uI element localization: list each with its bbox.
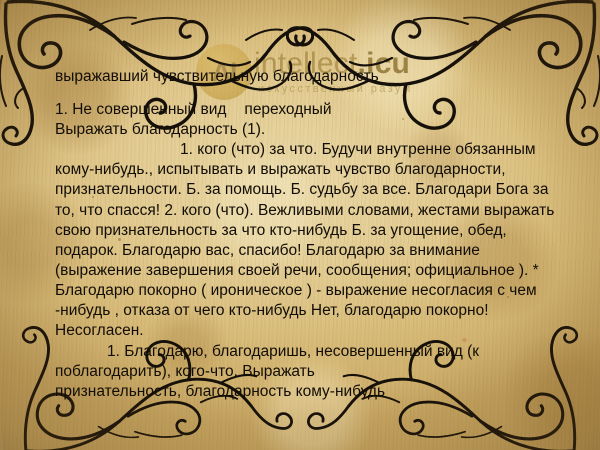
sense-three: признательность, благодарность кому-нибу… [55,382,555,402]
transitivity-label: переходный [244,101,331,118]
page-title: выражавший чувствительную благодарность [55,68,555,86]
slide-text-content: выражавший чувствительную благодарность … [55,68,555,402]
sense-two: 1. Благодарю, благодаришь, несовершенный… [55,342,555,382]
slide-canvas: AI intellect.icu искусственный разум [0,0,600,450]
sense-one: 1. кого (что) за что. Будучи внутренне о… [55,140,555,341]
definition-body: 1. Не совершенный видпереходный Выражать… [55,100,555,402]
grammar-line: 1. Не совершенный видпереходный [55,100,555,120]
heading-text: выражавший чувствительную благодарность [55,68,379,85]
short-definition: Выражать благодарность (1). [55,120,555,140]
aspect-label: 1. Не совершенный вид [55,101,226,118]
